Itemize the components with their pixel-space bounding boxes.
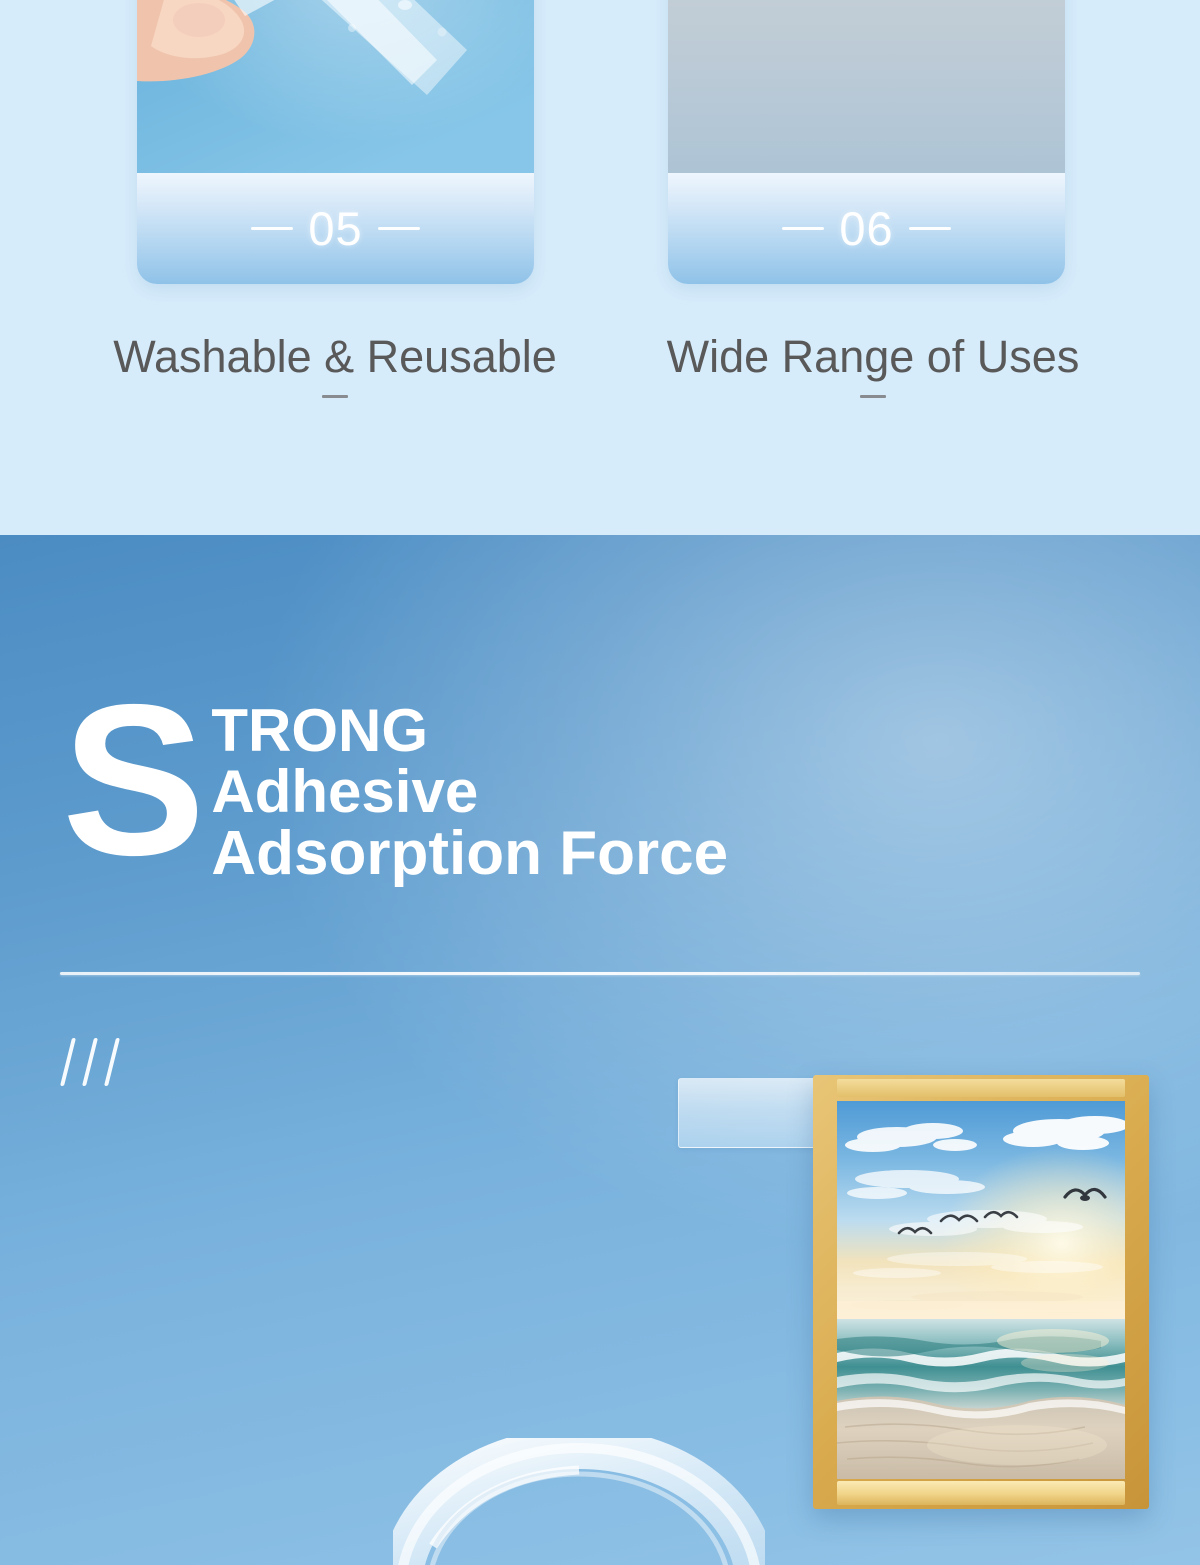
number-dash-left-icon bbox=[782, 227, 824, 230]
feature-number-label: 06 bbox=[839, 205, 893, 252]
hero-divider bbox=[60, 972, 1140, 975]
feature-card-05[interactable]: 05 bbox=[137, 0, 534, 284]
frame-artwork-beach-sunset bbox=[837, 1101, 1125, 1479]
hero-slashes-icon bbox=[62, 1038, 142, 1088]
number-dash-right-icon bbox=[909, 227, 951, 230]
caption-dash-icon bbox=[860, 395, 886, 398]
feature-caption-title: Washable & Reusable bbox=[55, 330, 615, 383]
frame-bevel-bottom bbox=[837, 1481, 1125, 1505]
number-dash-left-icon bbox=[251, 227, 293, 230]
feature-number-band-06: 06 bbox=[668, 173, 1065, 284]
hero-heading-line-2: Adhesive bbox=[211, 761, 728, 822]
hero-heading-lines: TRONG Adhesive Adsorption Force bbox=[211, 700, 728, 886]
feature-caption-wide-range: Wide Range of Uses bbox=[593, 330, 1153, 398]
product-detail-page: 05 bbox=[0, 0, 1200, 1565]
feature-captions-row: Washable & Reusable Wide Range of Uses bbox=[0, 330, 1200, 460]
adhesive-tape-strip bbox=[678, 1078, 820, 1148]
slash-mark-2-icon bbox=[82, 1038, 98, 1086]
hero-section: S TRONG Adhesive Adsorption Force bbox=[0, 535, 1200, 1565]
tape-roll bbox=[393, 1438, 765, 1565]
feature-card-06[interactable]: 06 bbox=[668, 0, 1065, 284]
number-dash-right-icon bbox=[378, 227, 420, 230]
feature-number-label: 05 bbox=[308, 205, 362, 252]
feature-image-washable bbox=[137, 0, 534, 173]
feature-caption-title: Wide Range of Uses bbox=[593, 330, 1153, 383]
hero-heading-line-3: Adsorption Force bbox=[211, 822, 728, 885]
hero-heading-line-1: TRONG bbox=[211, 700, 728, 761]
hero-drop-cap: S bbox=[62, 696, 203, 864]
feature-caption-washable: Washable & Reusable bbox=[55, 330, 615, 398]
slash-mark-1-icon bbox=[60, 1038, 76, 1086]
frame-bevel-top bbox=[837, 1079, 1125, 1097]
feature-image-wide-range-of-uses bbox=[668, 0, 1065, 173]
caption-dash-icon bbox=[322, 395, 348, 398]
feature-number-band-05: 05 bbox=[137, 173, 534, 284]
hero-heading: S TRONG Adhesive Adsorption Force bbox=[62, 690, 728, 886]
slash-mark-3-icon bbox=[104, 1038, 120, 1086]
framed-picture bbox=[813, 1075, 1149, 1509]
features-section: 05 bbox=[0, 0, 1200, 535]
